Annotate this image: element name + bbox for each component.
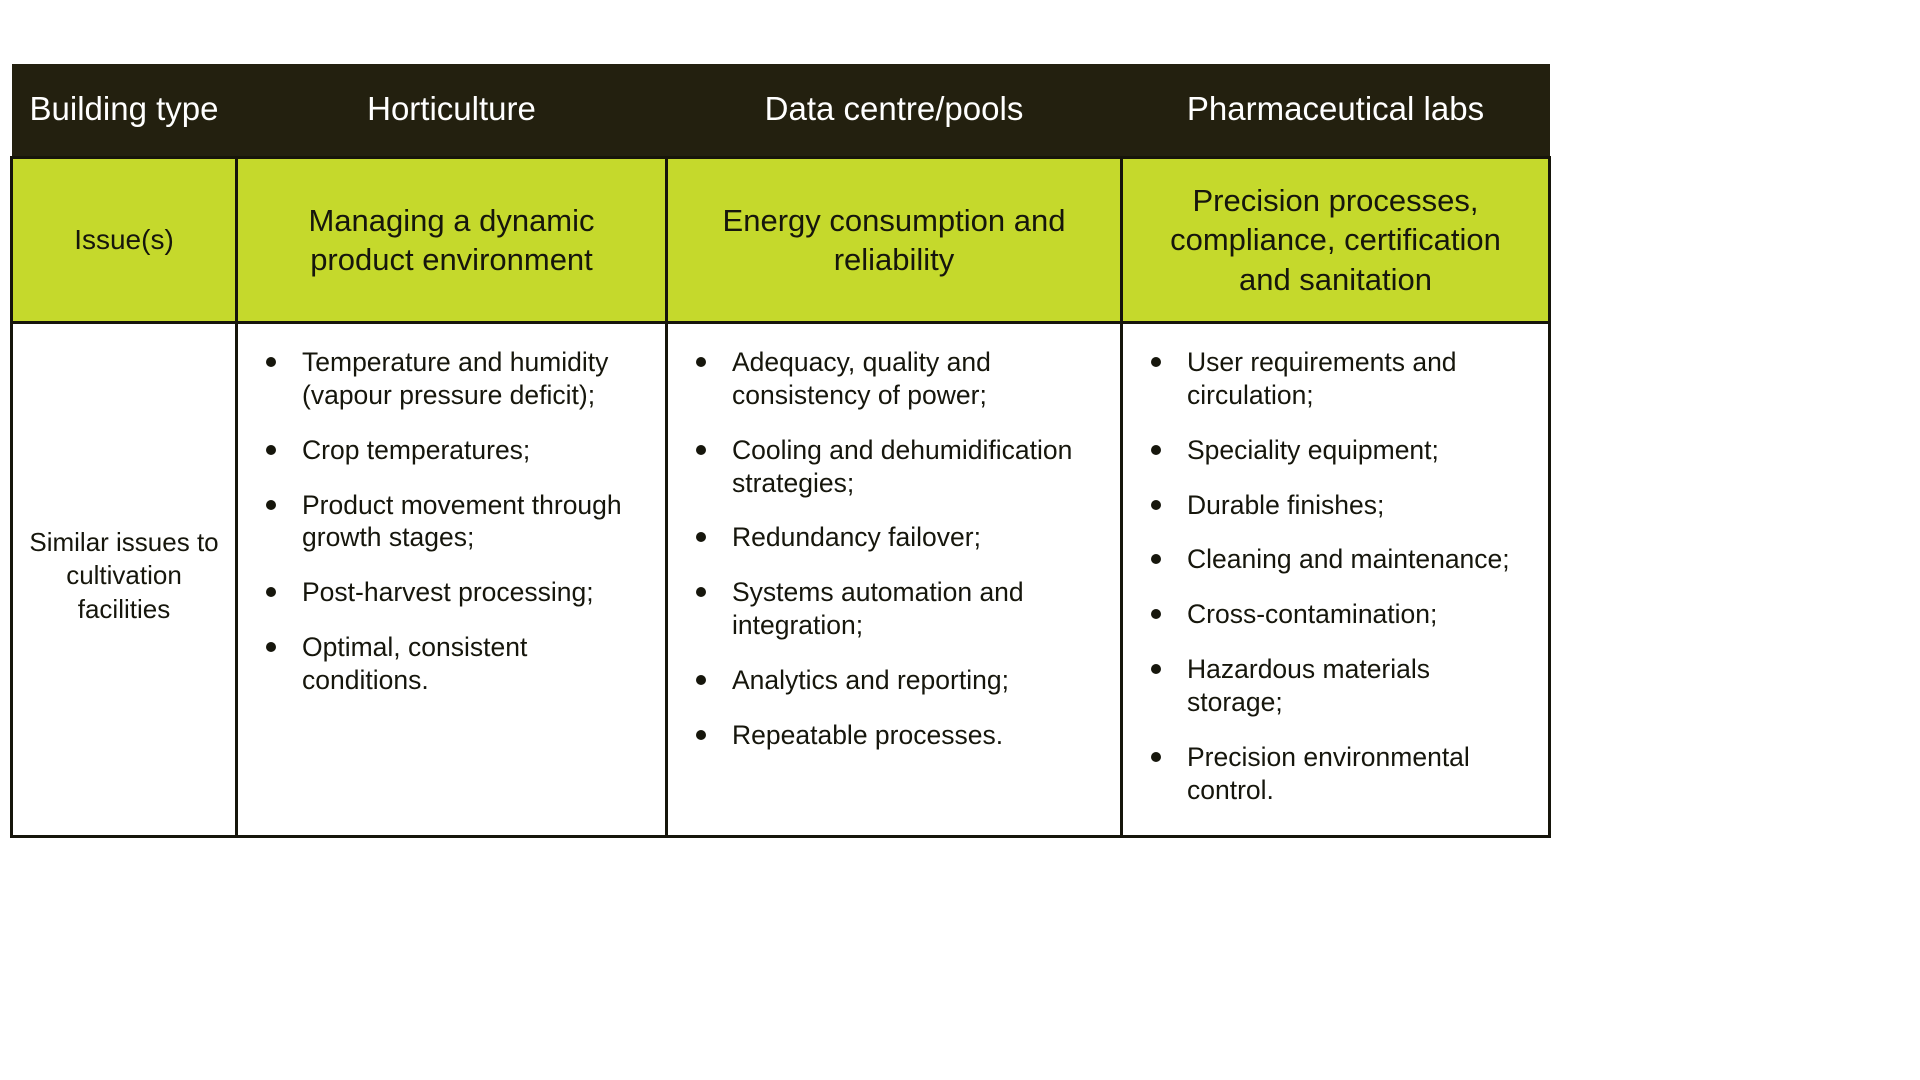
list-item: Durable finishes; — [1139, 489, 1532, 522]
list-item: Product movement through growth stages; — [254, 489, 649, 555]
details-cell-horticulture: Temperature and humidity (vapour pressur… — [237, 322, 667, 836]
bullet-dot-icon — [696, 587, 706, 597]
bullet-dot-icon — [1151, 445, 1161, 455]
bullet-dot-icon — [1151, 357, 1161, 367]
bullet-dot-icon — [266, 445, 276, 455]
list-item: Speciality equipment; — [1139, 434, 1532, 467]
list-item: User requirements and circulation; — [1139, 346, 1532, 412]
bullet-dot-icon — [1151, 752, 1161, 762]
row-label-similar-issues: Similar issues to cultivation facilities — [12, 322, 237, 836]
list-item-label: Redundancy failover; — [732, 522, 981, 552]
bullet-dot-icon — [266, 587, 276, 597]
table-row: Issue(s) Managing a dynamic product envi… — [12, 157, 1550, 322]
column-header-horticulture: Horticulture — [237, 64, 667, 157]
list-item-label: Cleaning and maintenance; — [1187, 544, 1510, 574]
list-item: Systems automation and integration; — [684, 576, 1104, 642]
list-item: Redundancy failover; — [684, 521, 1104, 554]
list-item-label: Temperature and humidity (vapour pressur… — [302, 347, 608, 410]
list-item-label: Optimal, consistent conditions. — [302, 632, 527, 695]
list-item: Precision environmental control. — [1139, 741, 1532, 807]
table-row: Similar issues to cultivation facilities… — [12, 322, 1550, 836]
bullet-dot-icon — [696, 357, 706, 367]
list-item: Post-harvest processing; — [254, 576, 649, 609]
list-item: Cooling and dehumidification strategies; — [684, 434, 1104, 500]
list-item-label: User requirements and circulation; — [1187, 347, 1457, 410]
list-item: Cross-contamination; — [1139, 598, 1532, 631]
issues-cell-horticulture: Managing a dynamic product environment — [237, 157, 667, 322]
bullet-dot-icon — [696, 730, 706, 740]
list-item: Cleaning and maintenance; — [1139, 543, 1532, 576]
issues-cell-pharmaceutical-labs: Precision processes, compliance, certifi… — [1122, 157, 1550, 322]
bullet-dot-icon — [1151, 609, 1161, 619]
list-item-label: Speciality equipment; — [1187, 435, 1439, 465]
list-item-label: Cooling and dehumidification strategies; — [732, 435, 1072, 498]
list-item-label: Repeatable processes. — [732, 720, 1003, 750]
bullet-dot-icon — [696, 675, 706, 685]
list-item-label: Product movement through growth stages; — [302, 490, 622, 553]
list-item: Analytics and reporting; — [684, 664, 1104, 697]
list-item-label: Systems automation and integration; — [732, 577, 1024, 640]
list-item-label: Post-harvest processing; — [302, 577, 594, 607]
list-item: Temperature and humidity (vapour pressur… — [254, 346, 649, 412]
list-item-label: Hazardous materials storage; — [1187, 654, 1430, 717]
bullet-dot-icon — [696, 445, 706, 455]
bullet-dot-icon — [266, 642, 276, 652]
comparison-table-container: Building type Horticulture Data centre/p… — [10, 64, 1548, 838]
list-item: Adequacy, quality and consistency of pow… — [684, 346, 1104, 412]
details-cell-pharmaceutical-labs: User requirements and circulation;Specia… — [1122, 322, 1550, 836]
bullet-dot-icon — [1151, 664, 1161, 674]
list-item-label: Cross-contamination; — [1187, 599, 1437, 629]
list-item: Crop temperatures; — [254, 434, 649, 467]
list-item-label: Precision environmental control. — [1187, 742, 1470, 805]
column-header-building-type: Building type — [12, 64, 237, 157]
bullet-list-horticulture: Temperature and humidity (vapour pressur… — [254, 346, 649, 697]
bullet-dot-icon — [266, 357, 276, 367]
column-header-pharmaceutical-labs: Pharmaceutical labs — [1122, 64, 1550, 157]
page-root: Building type Horticulture Data centre/p… — [0, 0, 1920, 1080]
list-item-label: Durable finishes; — [1187, 490, 1384, 520]
list-item-label: Crop temperatures; — [302, 435, 530, 465]
table-header-row: Building type Horticulture Data centre/p… — [12, 64, 1550, 157]
bullet-list-data-centre-pools: Adequacy, quality and consistency of pow… — [684, 346, 1104, 752]
bullet-dot-icon — [266, 500, 276, 510]
issues-cell-data-centre-pools: Energy consumption and reliability — [667, 157, 1122, 322]
bullet-dot-icon — [1151, 500, 1161, 510]
list-item-label: Adequacy, quality and consistency of pow… — [732, 347, 991, 410]
bullet-dot-icon — [1151, 554, 1161, 564]
list-item: Hazardous materials storage; — [1139, 653, 1532, 719]
list-item: Optimal, consistent conditions. — [254, 631, 649, 697]
bullet-list-pharmaceutical-labs: User requirements and circulation;Specia… — [1139, 346, 1532, 807]
row-label-issues: Issue(s) — [12, 157, 237, 322]
column-header-data-centre-pools: Data centre/pools — [667, 64, 1122, 157]
list-item: Repeatable processes. — [684, 719, 1104, 752]
building-type-comparison-table: Building type Horticulture Data centre/p… — [10, 64, 1551, 838]
bullet-dot-icon — [696, 532, 706, 542]
details-cell-data-centre-pools: Adequacy, quality and consistency of pow… — [667, 322, 1122, 836]
list-item-label: Analytics and reporting; — [732, 665, 1009, 695]
